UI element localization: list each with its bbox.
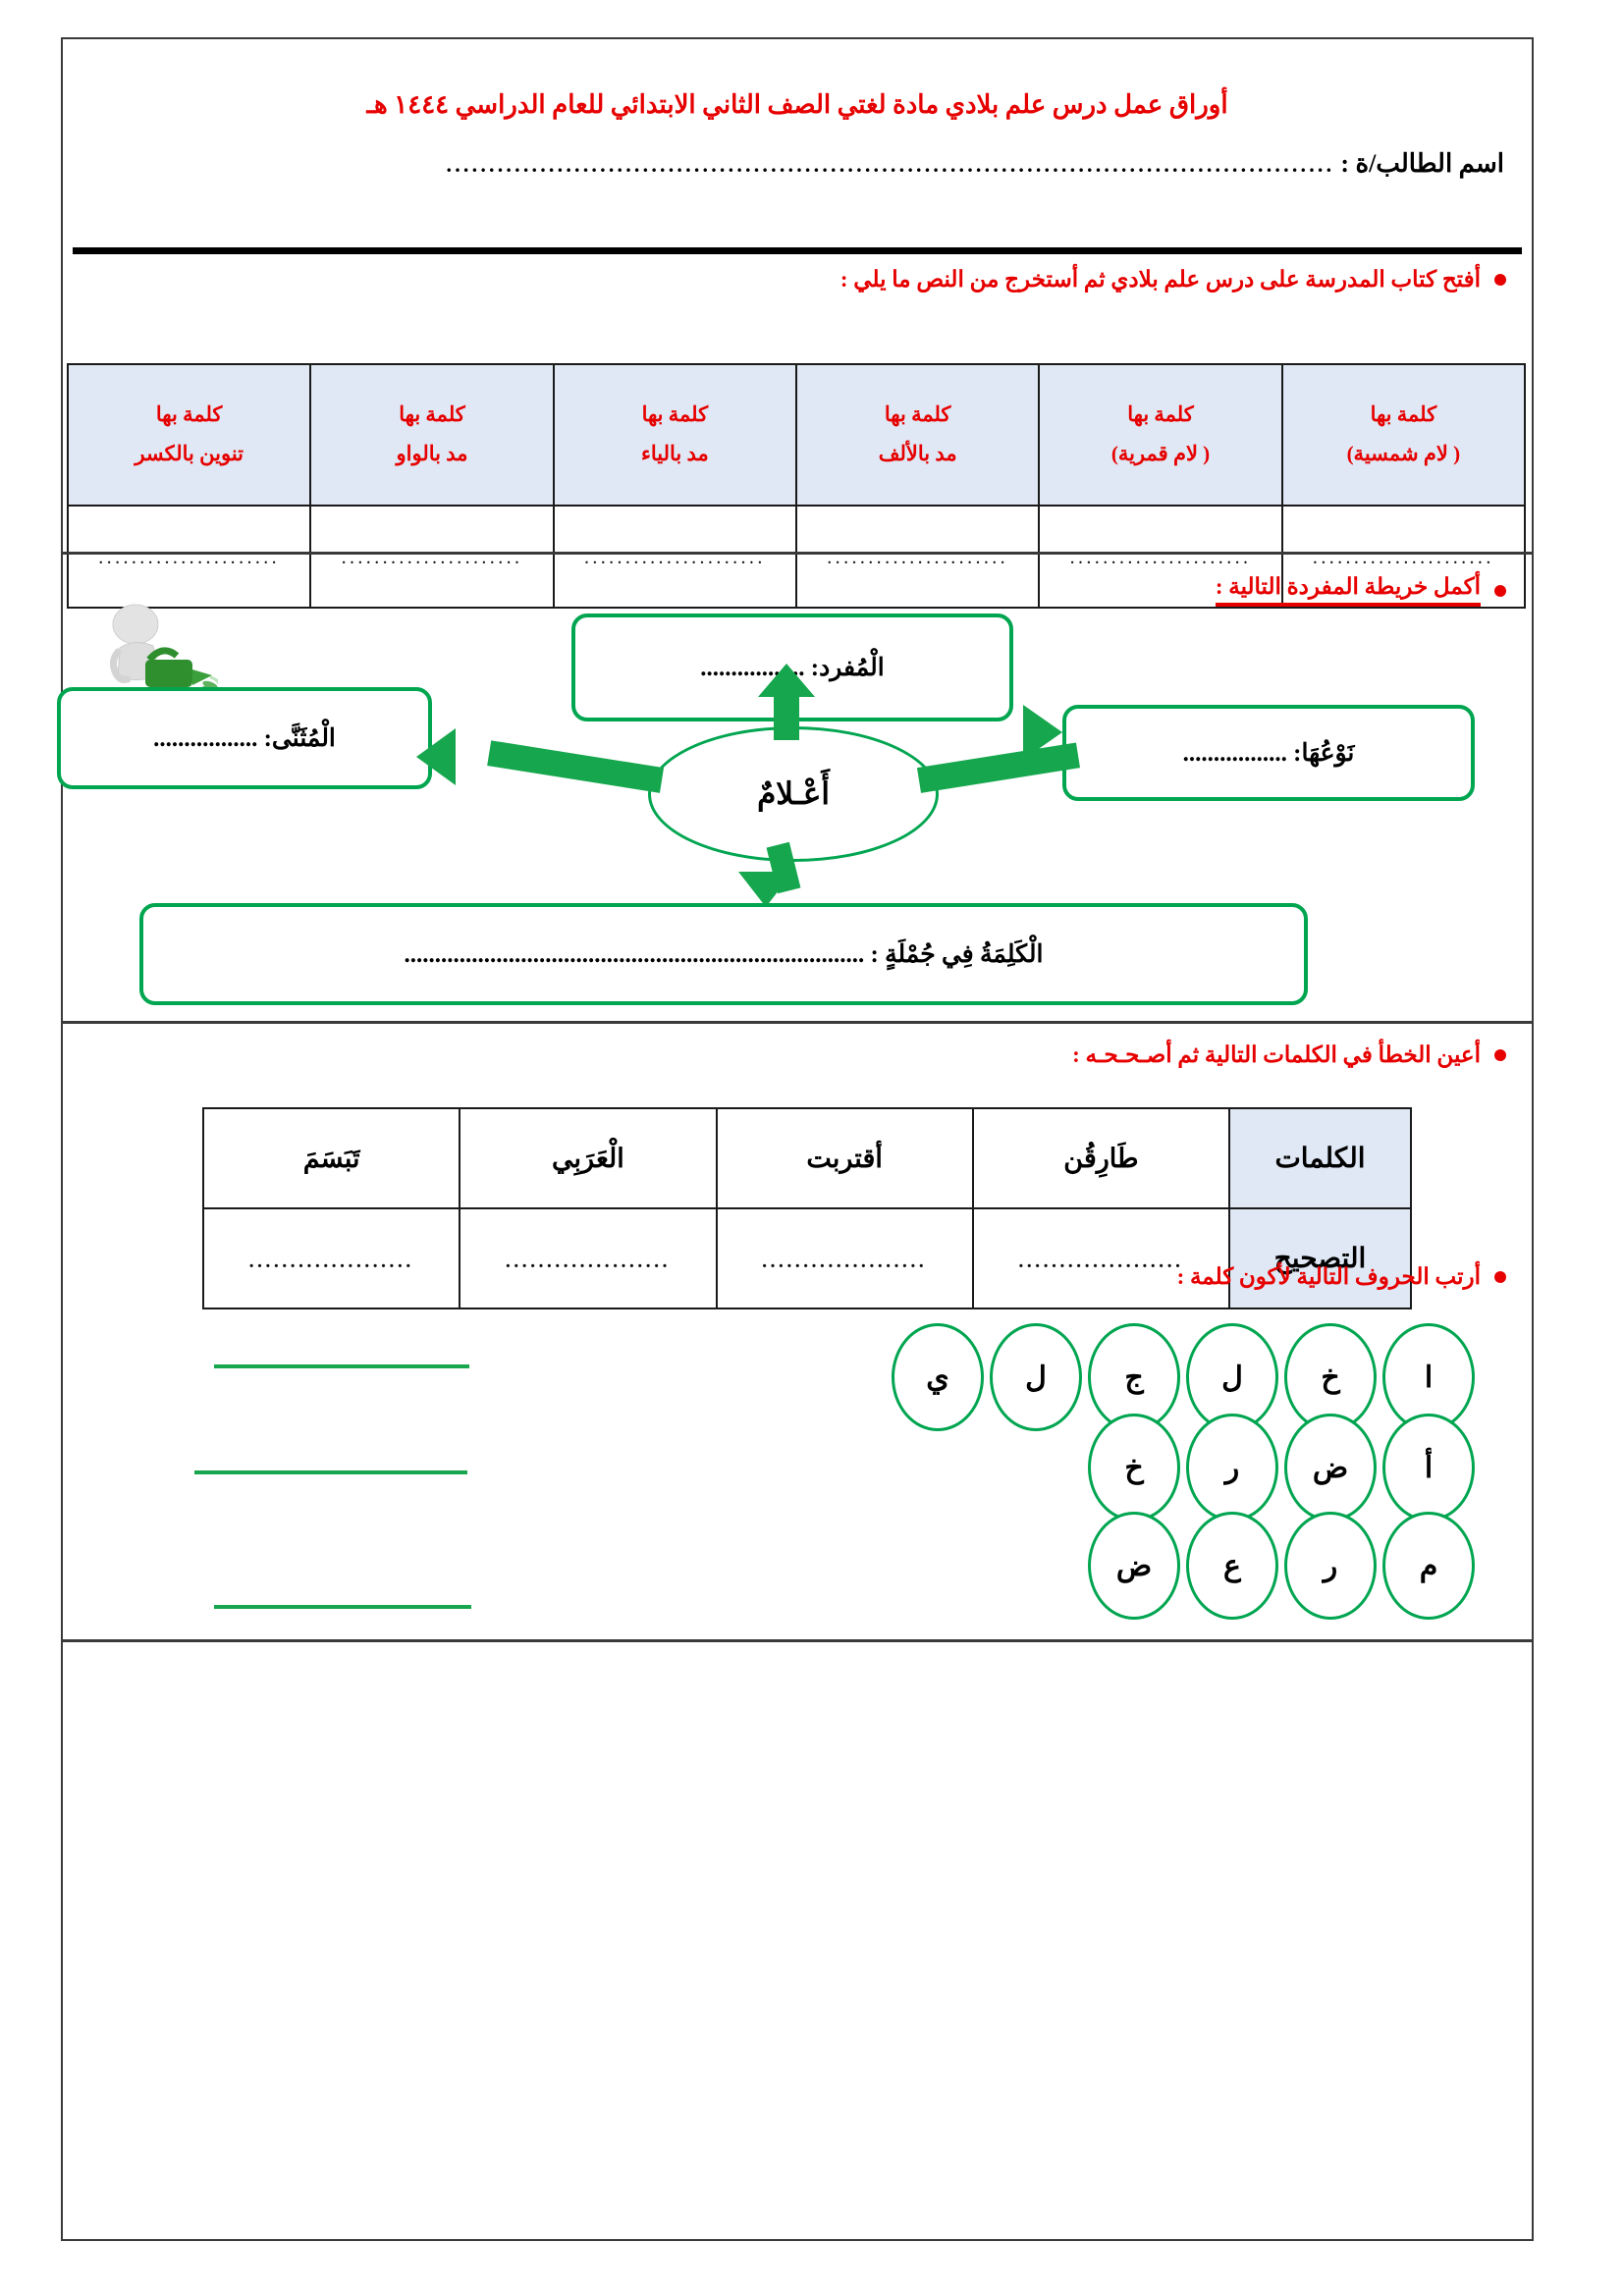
extract-answer-cell-4[interactable]: ...................... bbox=[310, 506, 553, 608]
arrow-left-head-icon bbox=[416, 728, 456, 785]
letter-r1-c2: ر bbox=[1225, 1451, 1240, 1485]
extract-col-3-header: كلمة بها مد بالياء bbox=[554, 364, 796, 506]
map-box-type[interactable]: نَوْعُهَا: ................. bbox=[1062, 705, 1475, 801]
answer-line-0[interactable] bbox=[214, 1364, 469, 1368]
page-title: أوراق عمل درس علم بلادي مادة لغتي الصف ا… bbox=[63, 90, 1532, 120]
letter-r2-c0: م bbox=[1420, 1549, 1438, 1583]
map-box-dual[interactable]: الْمُثَنَّى: ................. bbox=[57, 687, 432, 789]
map-sentence-dots: ........................................… bbox=[405, 941, 865, 968]
extract-answer-dots-2: ...................... bbox=[827, 547, 1008, 568]
extract-answer-dots-1: ...................... bbox=[1070, 547, 1252, 568]
correction-word-0: طَارِقُن bbox=[973, 1108, 1229, 1208]
extract-col-1-line2: ( لام قمرية) bbox=[1044, 435, 1276, 474]
student-name-label: اسم الطالب/ة : bbox=[1340, 149, 1504, 179]
extract-col-1-header: كلمة بها ( لام قمرية) bbox=[1039, 364, 1281, 506]
correction-dots-3: .................... bbox=[249, 1251, 414, 1272]
extract-answer-cell-3[interactable]: ...................... bbox=[554, 506, 796, 608]
extract-answer-cell-5[interactable]: ...................... bbox=[68, 506, 310, 608]
instruction-correction: أعين الخطأ في الكلمات التالية ثم أصـحـحـ… bbox=[1072, 1042, 1506, 1068]
letter-r2-c2: ع bbox=[1223, 1549, 1241, 1583]
extract-col-5-header: كلمة بها تنوين بالكسر bbox=[68, 364, 310, 506]
extraction-table: كلمة بها ( لام شمسية) كلمة بها ( لام قمر… bbox=[67, 363, 1526, 609]
letter-r0-c0: ا bbox=[1425, 1361, 1433, 1395]
extract-answer-dots-3: ...................... bbox=[584, 547, 766, 568]
letter-r2-c3: ض bbox=[1116, 1549, 1152, 1583]
letter-r1-c0: أ bbox=[1425, 1451, 1433, 1485]
letter-oval-r1-c0: أ bbox=[1382, 1414, 1475, 1522]
letter-oval-r2-c3: ض bbox=[1088, 1512, 1180, 1620]
extract-col-0-line2: ( لام شمسية) bbox=[1287, 435, 1520, 474]
correction-dots-2: .................... bbox=[506, 1251, 671, 1272]
letter-oval-r1-c2: ر bbox=[1186, 1414, 1278, 1522]
correction-dots-0: .................... bbox=[1018, 1251, 1183, 1272]
letter-r0-c2: ل bbox=[1221, 1361, 1243, 1395]
student-name-row: اسم الطالب/ة : .........................… bbox=[102, 149, 1504, 179]
arrow-up-shaft bbox=[774, 695, 799, 740]
map-box-type-label: نَوْعُهَا: ................. bbox=[1183, 738, 1355, 768]
extract-col-1-line1: كلمة بها bbox=[1044, 396, 1276, 435]
letter-r0-c4: ل bbox=[1025, 1361, 1047, 1395]
correction-answer-2[interactable]: .................... bbox=[460, 1208, 716, 1308]
worksheet-page: أوراق عمل درس علم بلادي مادة لغتي الصف ا… bbox=[61, 37, 1534, 2241]
map-box-dual-label: الْمُثَنَّى: ................. bbox=[153, 723, 336, 753]
correction-row-head-fix: التصحيح bbox=[1229, 1208, 1411, 1308]
section1-divider bbox=[63, 552, 1532, 555]
extract-answer-cell-2[interactable]: ...................... bbox=[796, 506, 1039, 608]
extract-col-5-line1: كلمة بها bbox=[73, 396, 305, 435]
correction-word-1: أقتربت bbox=[717, 1108, 973, 1208]
extract-answer-dots-0: ...................... bbox=[1313, 547, 1494, 568]
answer-line-2[interactable] bbox=[214, 1605, 471, 1609]
student-name-blank[interactable]: ........................................… bbox=[102, 152, 1334, 178]
letter-r1-c1: ض bbox=[1313, 1451, 1348, 1485]
correction-word-3: تَبَسَمَ bbox=[203, 1108, 460, 1208]
arrow-up-head-icon bbox=[758, 664, 815, 697]
bullet-icon bbox=[1494, 274, 1506, 286]
instruction-correction-text: أعين الخطأ في الكلمات التالية ثم أصـحـحـ… bbox=[1072, 1042, 1481, 1068]
map-center-oval: أَعْـلامٌ bbox=[648, 726, 939, 862]
correction-word-2: الْعَرَبِي bbox=[460, 1108, 716, 1208]
bullet-icon bbox=[1494, 1049, 1506, 1061]
section4-divider bbox=[63, 1639, 1532, 1642]
map-singular-text: الْمُفرد: bbox=[811, 655, 885, 681]
correction-answer-1[interactable]: .................... bbox=[717, 1208, 973, 1308]
extract-col-4-line2: مد بالواو bbox=[315, 435, 548, 474]
letter-oval-r2-c1: ر bbox=[1284, 1512, 1377, 1620]
map-dual-text: الْمُثَنَّى: bbox=[264, 725, 336, 752]
correction-answer-3[interactable]: .................... bbox=[203, 1208, 460, 1308]
arrow-left-shaft bbox=[487, 740, 664, 793]
extract-answer-dots-4: ...................... bbox=[342, 547, 523, 568]
extract-col-4-line1: كلمة بها bbox=[315, 396, 548, 435]
letter-oval-r2-c0: م bbox=[1382, 1512, 1475, 1620]
instruction-arrange-letters-text: أرتب الحروف التالية لأكون كلمة : bbox=[1177, 1264, 1481, 1290]
section2-divider bbox=[63, 1021, 1532, 1024]
extract-col-3-line2: مد بالياء bbox=[559, 435, 791, 474]
correction-row-head-words: الكلمات bbox=[1229, 1108, 1411, 1208]
letter-r0-c3: ج bbox=[1124, 1361, 1143, 1395]
extract-col-4-header: كلمة بها مد بالواو bbox=[310, 364, 553, 506]
map-type-text: نَوْعُهَا: bbox=[1293, 740, 1354, 767]
letter-r0-c1: خ bbox=[1321, 1361, 1339, 1395]
extract-col-2-line2: مد بالألف bbox=[801, 435, 1034, 474]
instruction-extract: أفتح كتاب المدرسة على درس علم بلادي ثم أ… bbox=[840, 267, 1506, 293]
map-dual-dots: ................. bbox=[153, 725, 257, 752]
extract-col-2-line1: كلمة بها bbox=[801, 396, 1034, 435]
letter-r0-c5: ي bbox=[926, 1361, 948, 1395]
instruction-arrange-letters: أرتب الحروف التالية لأكون كلمة : bbox=[1177, 1264, 1506, 1290]
instruction-extract-text: أفتح كتاب المدرسة على درس علم بلادي ثم أ… bbox=[840, 267, 1481, 293]
correction-dots-1: .................... bbox=[762, 1251, 927, 1272]
letter-oval-r1-c3: خ bbox=[1088, 1414, 1180, 1522]
header-divider bbox=[73, 247, 1522, 254]
map-center-word: أَعْـلامٌ bbox=[757, 776, 830, 812]
bullet-icon bbox=[1494, 585, 1506, 597]
letter-oval-r2-c2: ع bbox=[1186, 1512, 1278, 1620]
letter-oval-r0-c5: ي bbox=[892, 1323, 984, 1431]
instruction-word-map-text: أكمل خريطة المفردة التالية : bbox=[1216, 574, 1481, 607]
answer-line-1[interactable] bbox=[194, 1470, 467, 1474]
extract-col-0-line1: كلمة بها bbox=[1287, 396, 1520, 435]
letter-r2-c1: ر bbox=[1324, 1549, 1338, 1583]
map-type-dots: ................. bbox=[1183, 740, 1287, 767]
letter-oval-r1-c1: ض bbox=[1284, 1414, 1377, 1522]
map-box-sentence-label: الْكَلِمَةُ فِي جُمْلَةٍ : .............… bbox=[405, 939, 1044, 969]
instruction-word-map: أكمل خريطة المفردة التالية : bbox=[1216, 574, 1506, 607]
extract-col-0-header: كلمة بها ( لام شمسية) bbox=[1282, 364, 1525, 506]
letter-oval-r0-c4: ل bbox=[990, 1323, 1082, 1431]
table-row-corrections: التصحيح .................... ...........… bbox=[203, 1208, 1411, 1308]
extract-col-2-header: كلمة بها مد بالألف bbox=[796, 364, 1039, 506]
arrow-right-head-icon bbox=[1023, 705, 1062, 760]
extract-answer-dots-5: ...................... bbox=[98, 547, 280, 568]
map-box-sentence[interactable]: الْكَلِمَةُ فِي جُمْلَةٍ : .............… bbox=[139, 903, 1308, 1005]
bullet-icon bbox=[1494, 1271, 1506, 1283]
arrow-down-head-icon bbox=[738, 872, 793, 907]
map-sentence-text: الْكَلِمَةُ فِي جُمْلَةٍ : bbox=[871, 941, 1044, 968]
table-row-headers: كلمة بها ( لام شمسية) كلمة بها ( لام قمر… bbox=[68, 364, 1525, 506]
letter-r1-c3: خ bbox=[1124, 1451, 1143, 1485]
extract-col-5-line2: تنوين بالكسر bbox=[73, 435, 305, 474]
table-row-words: الكلمات طَارِقُن أقتربت الْعَرَبِي تَبَس… bbox=[203, 1108, 1411, 1208]
correction-answer-0[interactable]: .................... bbox=[973, 1208, 1229, 1308]
extract-col-3-line1: كلمة بها bbox=[559, 396, 791, 435]
